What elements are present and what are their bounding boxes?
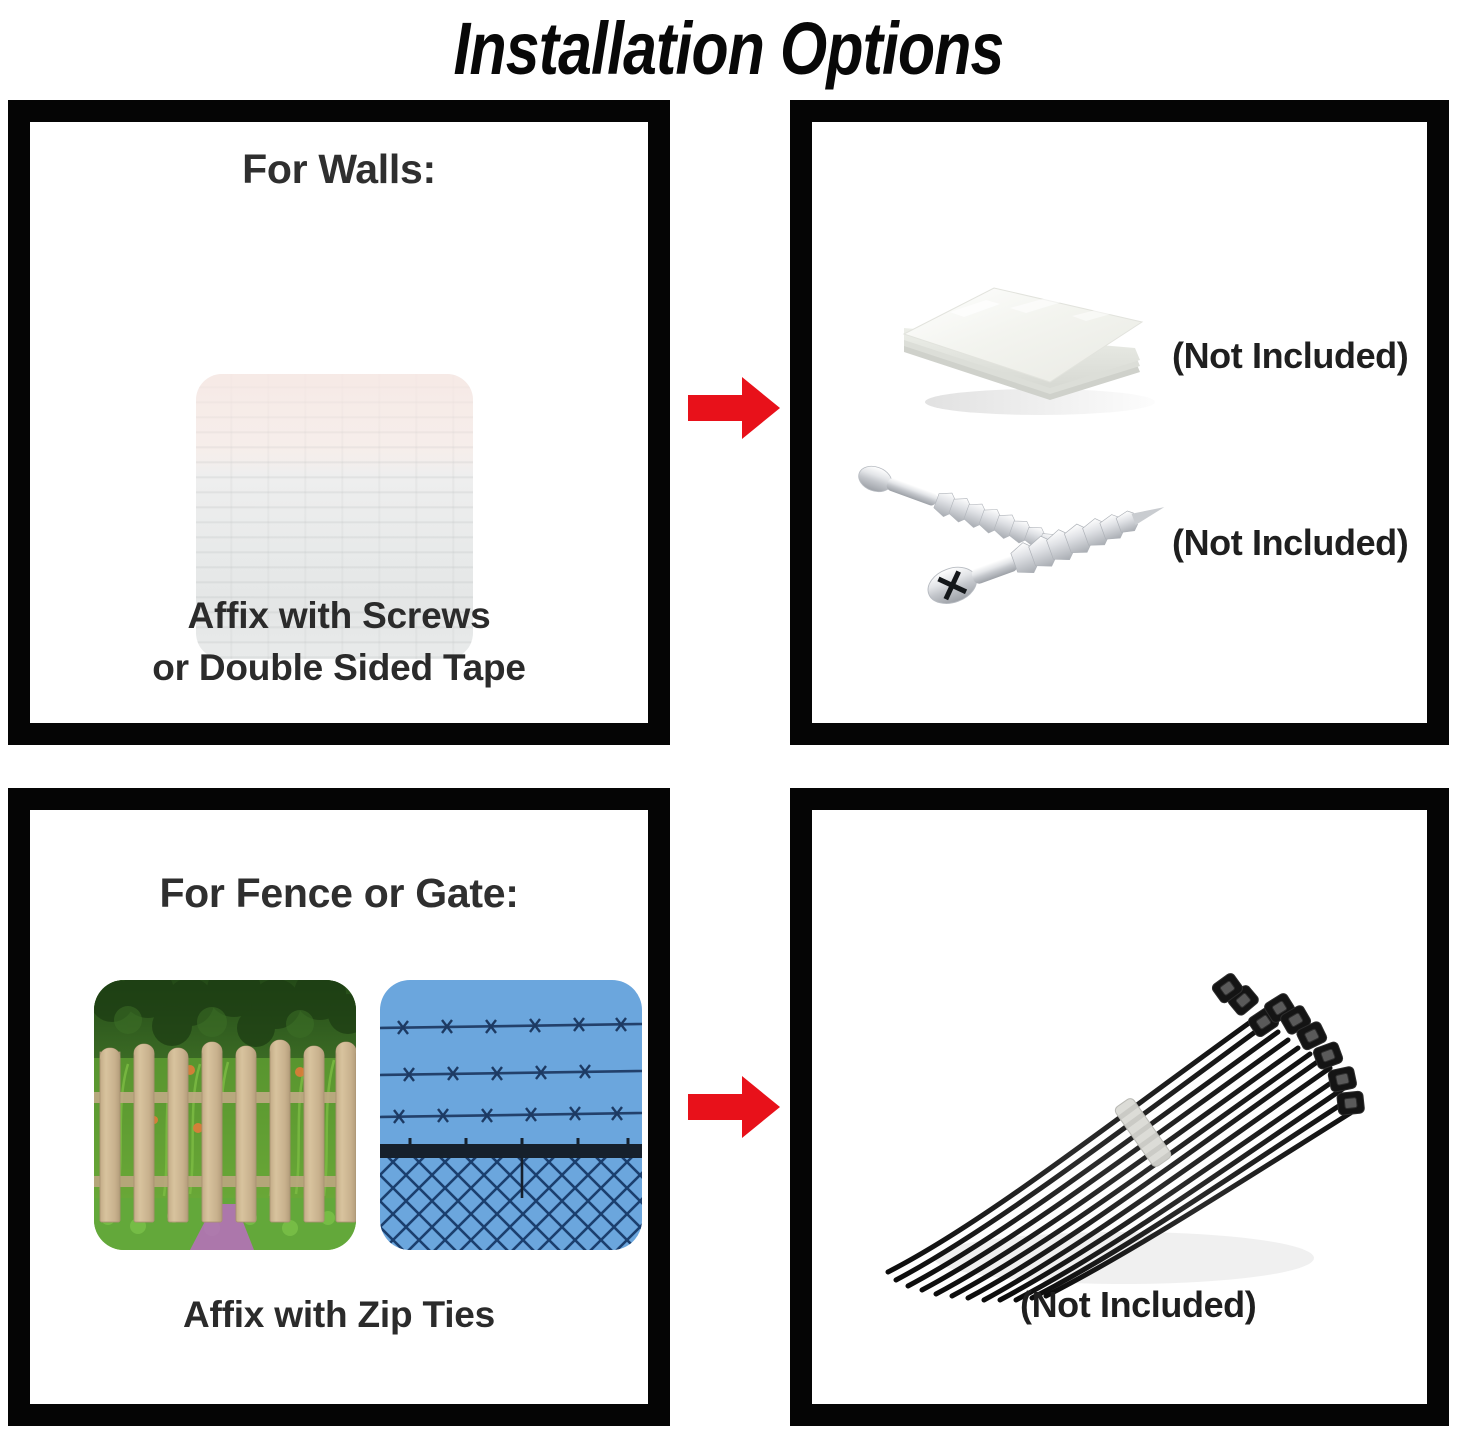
black-zip-ties-bundle-image (874, 928, 1384, 1318)
barbed-wire-chain-link-fence-image (380, 980, 642, 1250)
zip-ties-not-included-label: (Not Included) (1020, 1284, 1256, 1326)
screws-not-included-label: (Not Included) (1172, 522, 1408, 564)
panel-for-walls: For Walls: Affix with Screws or Double S… (8, 100, 670, 745)
panel-for-fence-or-gate: For Fence or Gate: (8, 788, 670, 1426)
wood-screws-image (848, 452, 1188, 637)
panel-for-fence-content: For Fence or Gate: (30, 810, 648, 1404)
walls-heading: For Walls: (30, 146, 648, 193)
red-right-arrow-icon (686, 373, 782, 443)
double-sided-tape-stack-image (890, 260, 1160, 425)
red-right-arrow-icon (686, 1072, 782, 1142)
fence-caption: Affix with Zip Ties (30, 1289, 648, 1342)
panel-fence-hardware: (Not Included) (790, 788, 1449, 1426)
panel-wall-hardware: (Not Included) (790, 100, 1449, 745)
page-title: Installation Options (131, 0, 1326, 96)
walls-caption-line2: or Double Sided Tape (30, 642, 648, 695)
tape-not-included-label: (Not Included) (1172, 335, 1408, 377)
panel-fence-hardware-content: (Not Included) (812, 810, 1427, 1404)
wooden-picket-fence-image (94, 980, 356, 1250)
walls-caption-line1: Affix with Screws (30, 590, 648, 643)
panel-for-walls-content: For Walls: Affix with Screws or Double S… (30, 122, 648, 723)
panel-wall-hardware-content: (Not Included) (812, 122, 1427, 723)
walls-caption: Affix with Screws or Double Sided Tape (30, 590, 648, 695)
fence-heading: For Fence or Gate: (30, 870, 648, 917)
